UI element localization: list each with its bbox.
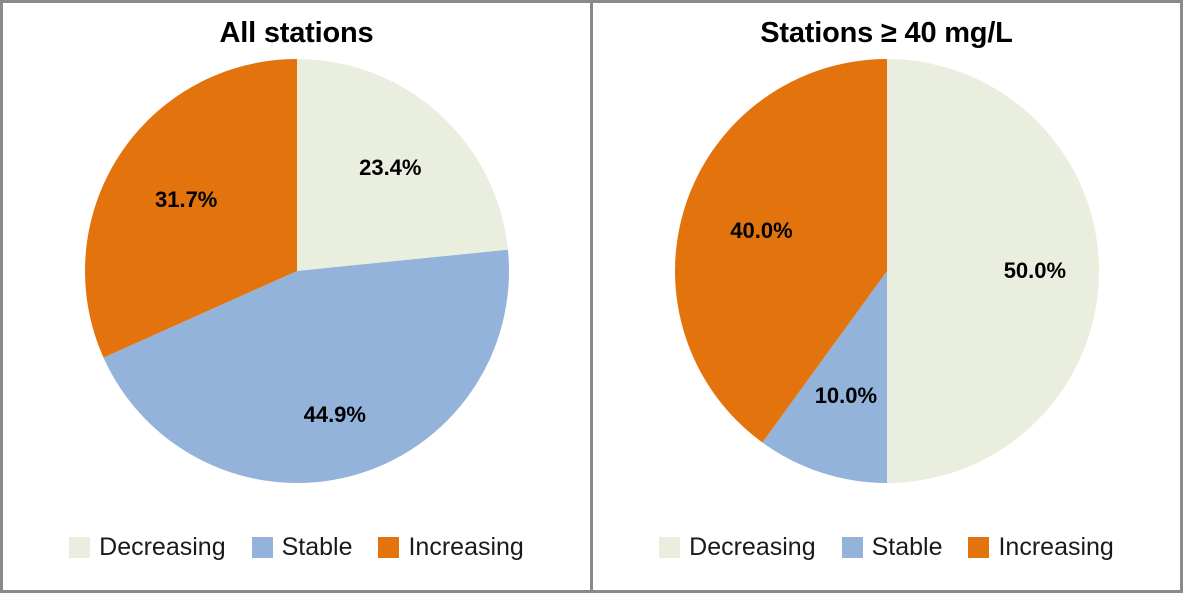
legend-item-decreasing[interactable]: Decreasing	[69, 535, 225, 560]
pie-slice-decreasing[interactable]	[887, 59, 1099, 483]
legend-label-decreasing: Decreasing	[689, 535, 815, 560]
legend-swatch-stable-icon	[252, 537, 273, 558]
legend-label-stable: Stable	[872, 535, 943, 560]
pie-chart-figure: All stations 23.4% 44.9% 31.7% Decreasin…	[0, 0, 1183, 593]
legend-item-stable[interactable]: Stable	[252, 535, 353, 560]
legend-item-increasing[interactable]: Increasing	[378, 535, 523, 560]
pie-chart-all-stations: 23.4% 44.9% 31.7%	[84, 58, 510, 484]
page-title: All stations	[220, 17, 374, 50]
legend-stations-ge-40: Decreasing Stable Increasing	[593, 535, 1180, 560]
legend-item-stable[interactable]: Stable	[842, 535, 943, 560]
legend-swatch-increasing-icon	[968, 537, 989, 558]
legend-all-stations: Decreasing Stable Increasing	[3, 535, 590, 560]
legend-label-increasing: Increasing	[998, 535, 1113, 560]
legend-swatch-stable-icon	[842, 537, 863, 558]
legend-item-decreasing[interactable]: Decreasing	[659, 535, 815, 560]
pie-chart-stations-ge-40: 50.0% 10.0% 40.0%	[674, 58, 1100, 484]
legend-item-increasing[interactable]: Increasing	[968, 535, 1113, 560]
page-title-secondary: Stations ≥ 40 mg/L	[760, 17, 1012, 50]
legend-label-stable: Stable	[282, 535, 353, 560]
chart-panel-stations-ge-40: Stations ≥ 40 mg/L 50.0% 10.0% 40.0% Dec…	[593, 3, 1180, 590]
legend-swatch-increasing-icon	[378, 537, 399, 558]
pie-svg	[674, 58, 1100, 484]
pie-slice-decreasing[interactable]	[297, 59, 508, 271]
legend-label-decreasing: Decreasing	[99, 535, 225, 560]
legend-swatch-decreasing-icon	[69, 537, 90, 558]
legend-swatch-decreasing-icon	[659, 537, 680, 558]
chart-panel-all-stations: All stations 23.4% 44.9% 31.7% Decreasin…	[3, 3, 593, 590]
pie-svg	[84, 58, 510, 484]
legend-label-increasing: Increasing	[408, 535, 523, 560]
